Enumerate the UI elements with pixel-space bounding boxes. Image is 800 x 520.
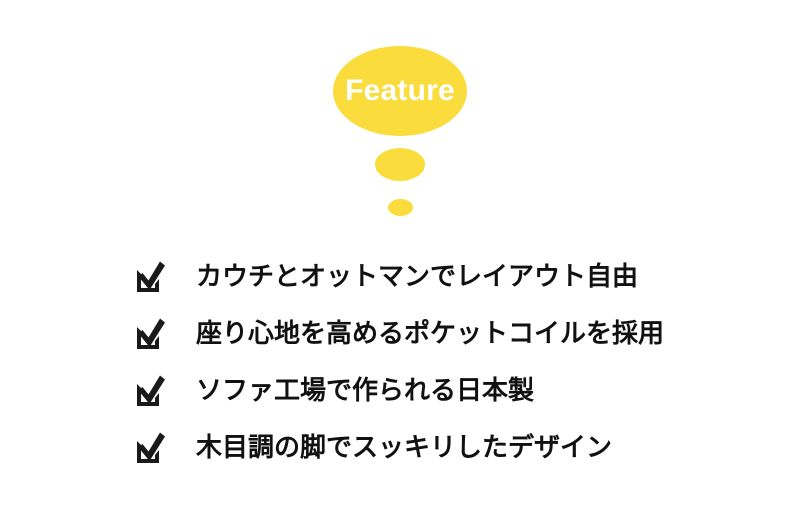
feature-balloon-tail-dot-small (388, 199, 413, 216)
feature-list-item: 座り心地を高めるポケットコイルを採用 (133, 305, 693, 362)
feature-list: カウチとオットマンでレイアウト自由 座り心地を高めるポケットコイルを採用 ソファ… (133, 248, 693, 476)
feature-list-item-label: ソファ工場で作られる日本製 (196, 376, 534, 405)
checkbox-checked-icon (133, 431, 167, 465)
feature-list-item: カウチとオットマンでレイアウト自由 (133, 248, 693, 305)
feature-balloon-main: Feature (333, 46, 467, 136)
feature-list-item-label: カウチとオットマンでレイアウト自由 (196, 262, 638, 291)
feature-list-item-label: 木目調の脚でスッキリしたデザイン (196, 433, 612, 462)
feature-balloon-label: Feature (345, 76, 455, 106)
checkbox-checked-icon (133, 317, 167, 351)
checkbox-checked-icon (133, 260, 167, 294)
feature-list-item-label: 座り心地を高めるポケットコイルを採用 (196, 319, 664, 348)
feature-list-item: 木目調の脚でスッキリしたデザイン (133, 419, 693, 476)
feature-balloon-tail-dot-large (375, 148, 425, 181)
checkbox-checked-icon (133, 374, 167, 408)
feature-panel: Feature カウチとオットマンでレイアウト自由 座り心地を高めるポケ (0, 0, 800, 520)
feature-balloon-group: Feature (0, 0, 800, 230)
feature-list-item: ソファ工場で作られる日本製 (133, 362, 693, 419)
